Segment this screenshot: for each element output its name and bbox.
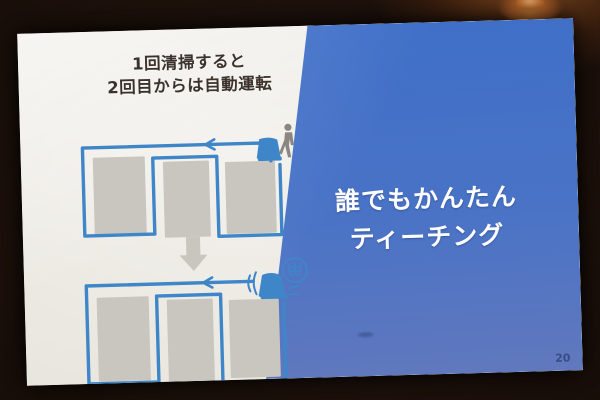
panel-headline: 誰でもかんたん ティーチング bbox=[299, 177, 553, 259]
projection-screen: 1回清掃すると 2回目からは自動運転 bbox=[17, 18, 583, 385]
headline-line-2: 2回目からは自動運転 bbox=[74, 71, 305, 101]
diagram-manual-teaching bbox=[74, 130, 287, 241]
left-arrow-icon bbox=[203, 277, 244, 288]
shelf-blocks bbox=[97, 293, 281, 384]
diagram-autonomous-run bbox=[78, 266, 291, 385]
shelf-blocks bbox=[93, 153, 277, 240]
slide-headline: 1回清掃すると 2回目からは自動運転 bbox=[74, 48, 305, 101]
operator-person-icon bbox=[278, 124, 294, 158]
left-arrow-icon bbox=[205, 138, 254, 149]
panel-line-1: 誰でもかんたん bbox=[335, 182, 518, 216]
scrubber-machine-icon bbox=[256, 137, 282, 161]
down-arrow-icon bbox=[179, 237, 208, 272]
slide-page-number: 20 bbox=[555, 352, 571, 365]
panel-line-2: ティーチング bbox=[301, 214, 554, 259]
signal-waves-icon bbox=[248, 272, 257, 294]
headline-line-1: 1回清掃すると bbox=[132, 51, 246, 73]
screenshot-stage: 1回清掃すると 2回目からは自動運転 bbox=[0, 0, 600, 400]
slide-canvas: 1回清掃すると 2回目からは自動運転 bbox=[17, 18, 583, 385]
